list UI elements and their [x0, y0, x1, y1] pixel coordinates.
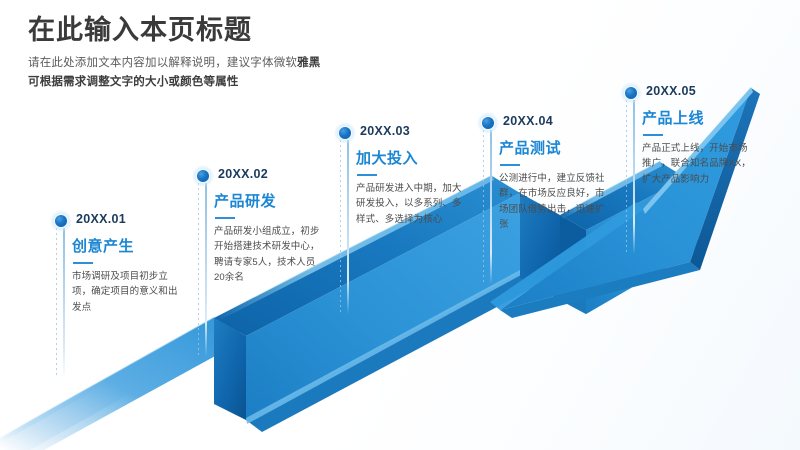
milestone-01-desc: 市场调研及项目初步立项，确定项目的意义和出发点 [72, 269, 184, 315]
milestone-03-date: 20XX.03 [360, 124, 410, 138]
milestone-04-title: 产品测试 [499, 140, 601, 158]
milestone-04-body: 产品测试 公测进行中，建立反馈社群，在市场反应良好，市场团队借势出击，迅速扩张 [487, 140, 601, 233]
milestone-marker-icon[interactable] [477, 112, 499, 134]
milestone-01-rule [73, 262, 93, 264]
slide-canvas: 在此输入本页标题 请在此处添加文本内容加以解释说明，建议字体微软雅黑 可根据需求… [0, 0, 800, 450]
milestone-05-head: 20XX.05 [620, 82, 744, 104]
milestone-04-rule [500, 164, 520, 166]
milestone-03[interactable]: 20XX.03 加大投入 产品研发进入中期，加大研发投入，以多系列、多样式、多选… [334, 122, 458, 227]
page-subtitle: 请在此处添加文本内容加以解释说明，建议字体微软雅黑 可根据需求调整文字的大小或颜… [28, 54, 321, 93]
page-title: 在此输入本页标题 [28, 14, 321, 48]
milestone-04-date: 20XX.04 [503, 114, 553, 128]
subtitle-line-1: 请在此处添加文本内容加以解释说明，建议字体微软雅黑 [28, 54, 321, 74]
milestone-03-desc: 产品研发进入中期，加大研发投入，以多系列、多样式、多选择为核心 [356, 181, 468, 227]
milestone-05-date: 20XX.05 [646, 84, 696, 98]
subtitle-line-1-plain: 请在此处添加文本内容加以解释说明，建议字体微软 [28, 57, 297, 69]
milestone-02-rule [215, 217, 235, 219]
milestone-02-title: 产品研发 [214, 193, 316, 211]
milestone-04[interactable]: 20XX.04 产品测试 公测进行中，建立反馈社群，在市场反应良好，市场团队借势… [477, 112, 601, 233]
milestone-04-head: 20XX.04 [477, 112, 601, 134]
milestone-01[interactable]: 20XX.01 创意产生 市场调研及项目初步立项，确定项目的意义和出发点 [50, 210, 174, 315]
milestone-02[interactable]: 20XX.02 产品研发 产品研发小组成立，初步开始搭建技术研发中心，聘请专家5… [192, 165, 316, 286]
marker-dot-icon [55, 215, 67, 227]
marker-dot-icon [625, 87, 637, 99]
milestone-01-date: 20XX.01 [76, 212, 126, 226]
milestone-04-desc: 公测进行中，建立反馈社群，在市场反应良好，市场团队借势出击，迅速扩张 [499, 171, 611, 233]
milestone-05-rule [643, 134, 663, 136]
milestone-05[interactable]: 20XX.05 产品上线 产品正式上线，开始市场推广，联合知名品牌XX，扩大产品… [620, 82, 744, 187]
milestone-05-title: 产品上线 [642, 110, 744, 128]
milestone-05-desc: 产品正式上线，开始市场推广，联合知名品牌XX，扩大产品影响力 [642, 141, 754, 187]
milestone-02-body: 产品研发 产品研发小组成立，初步开始搭建技术研发中心，聘请专家5人，技术人员20… [202, 193, 316, 286]
milestone-03-body: 加大投入 产品研发进入中期，加大研发投入，以多系列、多样式、多选择为核心 [344, 150, 458, 227]
subtitle-line-2: 可根据需求调整文字的大小或颜色等属性 [28, 73, 321, 93]
subtitle-line-1-emphasis: 雅黑 [297, 57, 320, 69]
milestone-03-title: 加大投入 [356, 150, 458, 168]
milestone-02-head: 20XX.02 [192, 165, 316, 187]
milestone-03-head: 20XX.03 [334, 122, 458, 144]
slide-header: 在此输入本页标题 请在此处添加文本内容加以解释说明，建议字体微软雅黑 可根据需求… [28, 14, 321, 93]
milestone-01-title: 创意产生 [72, 238, 174, 256]
marker-dot-icon [197, 170, 209, 182]
milestone-02-desc: 产品研发小组成立，初步开始搭建技术研发中心，聘请专家5人，技术人员20余名 [214, 224, 326, 286]
marker-dot-icon [339, 127, 351, 139]
milestone-01-body: 创意产生 市场调研及项目初步立项，确定项目的意义和出发点 [60, 238, 174, 315]
milestone-marker-icon[interactable] [620, 82, 642, 104]
milestone-marker-icon[interactable] [50, 210, 72, 232]
milestone-02-date: 20XX.02 [218, 167, 268, 181]
milestone-03-rule [357, 174, 377, 176]
milestone-marker-icon[interactable] [192, 165, 214, 187]
ribbon-segment-1 [0, 317, 248, 450]
milestone-05-body: 产品上线 产品正式上线，开始市场推广，联合知名品牌XX，扩大产品影响力 [630, 110, 744, 187]
milestone-marker-icon[interactable] [334, 122, 356, 144]
marker-dot-icon [482, 117, 494, 129]
milestone-01-head: 20XX.01 [50, 210, 174, 232]
